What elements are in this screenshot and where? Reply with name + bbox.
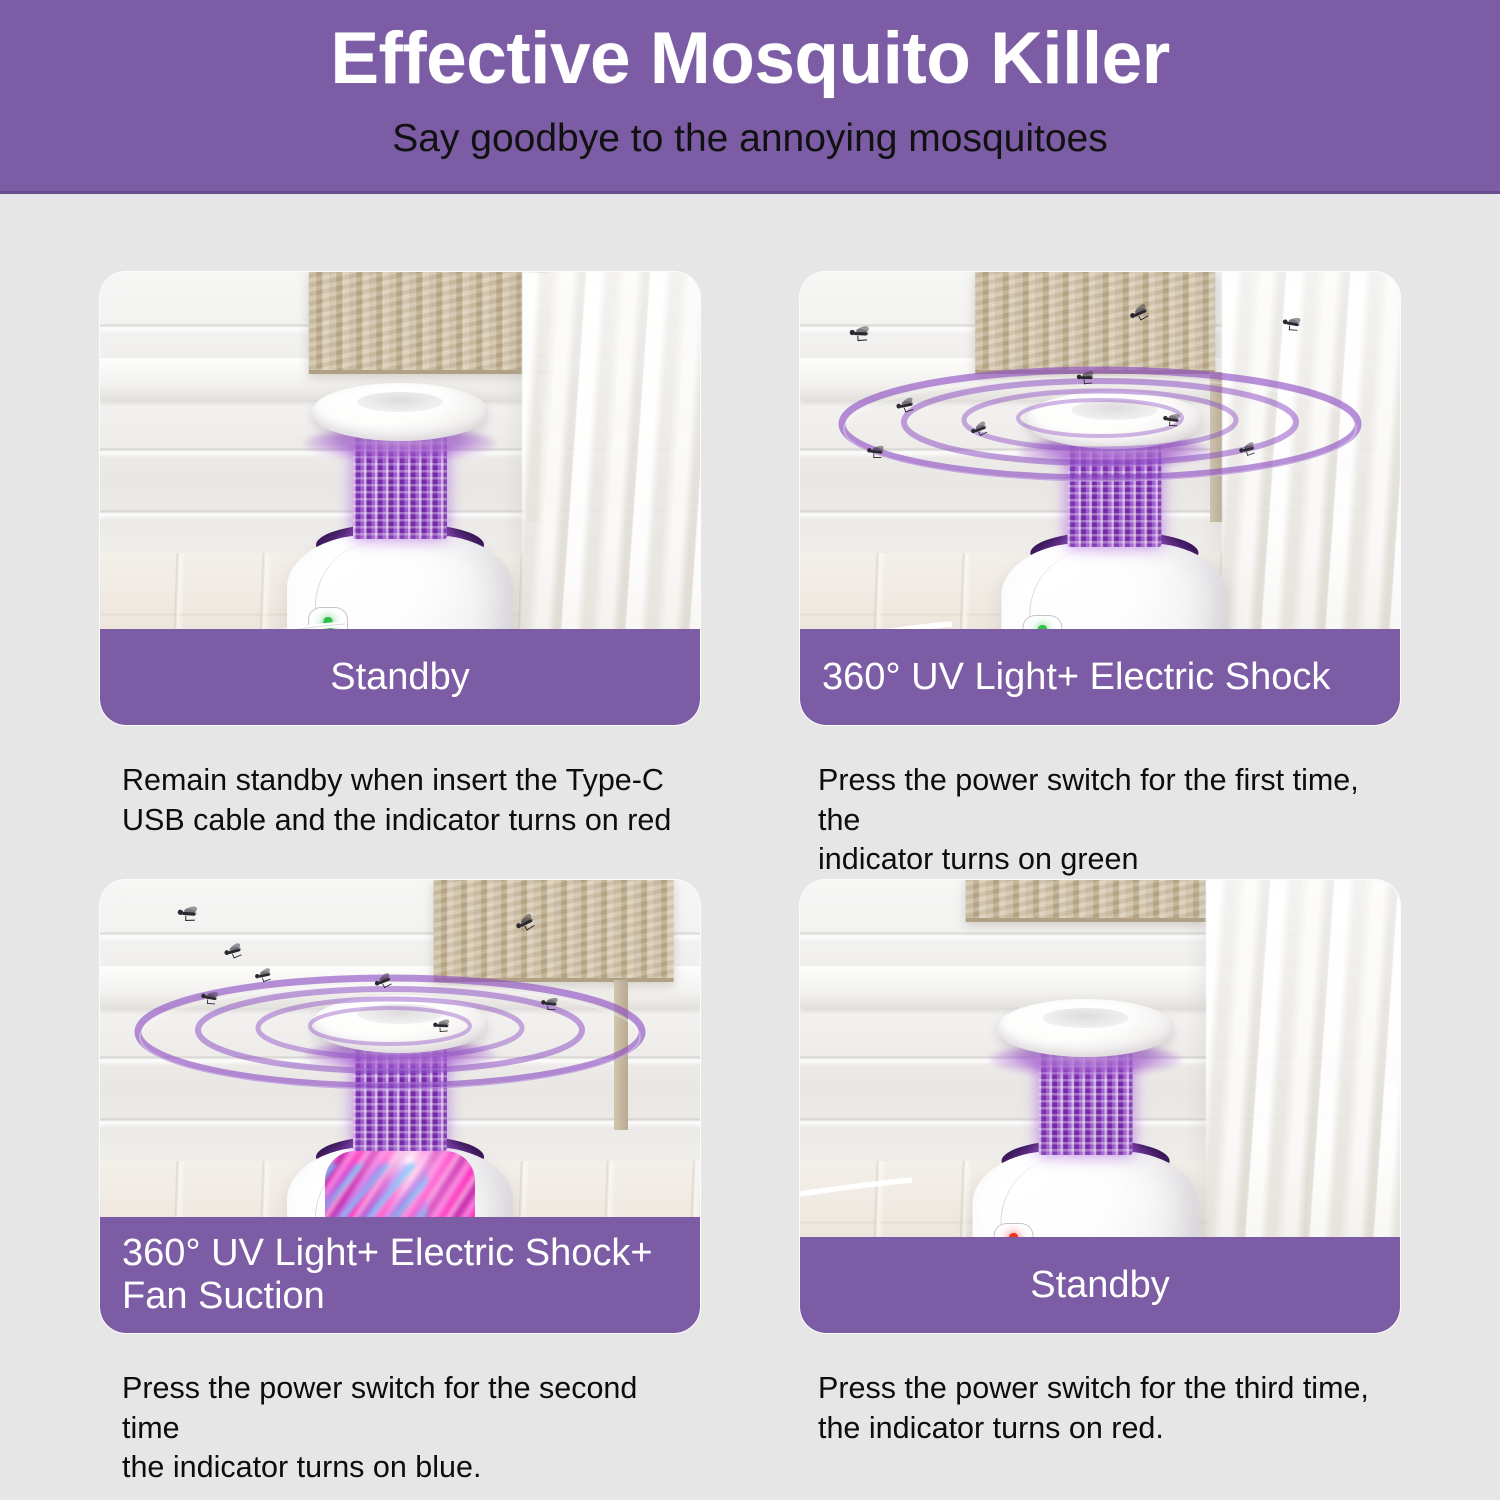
basket-leg: [614, 980, 628, 1130]
lamp-cap-inner-mouth: [357, 1004, 443, 1024]
panel-caption-bar: 360° UV Light+ Electric Shock+ Fan Sucti…: [100, 1217, 700, 1333]
panel-description: Press the power switch for the third tim…: [800, 1369, 1400, 1448]
panel-caption-bar: 360° UV Light+ Electric Shock: [800, 629, 1400, 725]
panel-standby-initial: Standby Remain standby when insert the T…: [100, 272, 700, 840]
product-photo: 360° UV Light+ Electric Shock+ Fan Sucti…: [100, 880, 700, 1333]
panel-description: Press the power switch for the second ti…: [100, 1369, 700, 1488]
panel-caption-text: Standby: [1030, 1264, 1169, 1307]
panel-caption-text: 360° UV Light+ Electric Shock: [822, 656, 1330, 699]
product-photo: Standby: [800, 880, 1400, 1333]
panel-description: Press the power switch for the first tim…: [800, 761, 1400, 880]
product-photo: 360° UV Light+ Electric Shock: [800, 272, 1400, 725]
panel-caption-bar: Standby: [800, 1237, 1400, 1333]
wicker-basket: [434, 880, 674, 982]
mosquito-icon: [253, 970, 273, 983]
panel-caption-bar: Standby: [100, 629, 700, 725]
feature-panel-grid: Standby Remain standby when insert the T…: [0, 0, 1500, 1500]
panel-caption-text: Standby: [330, 656, 469, 699]
panel-standby-final: Standby Press the power switch for the t…: [800, 880, 1400, 1448]
product-photo: Standby: [100, 272, 700, 725]
panel-description: Remain standby when insert the Type-C US…: [100, 761, 700, 840]
panel-uv-shock-fan: 360° UV Light+ Electric Shock+ Fan Sucti…: [100, 880, 700, 1488]
panel-uv-electric-shock: 360° UV Light+ Electric Shock Press the …: [800, 272, 1400, 880]
panel-caption-text: 360° UV Light+ Electric Shock+ Fan Sucti…: [122, 1232, 653, 1318]
